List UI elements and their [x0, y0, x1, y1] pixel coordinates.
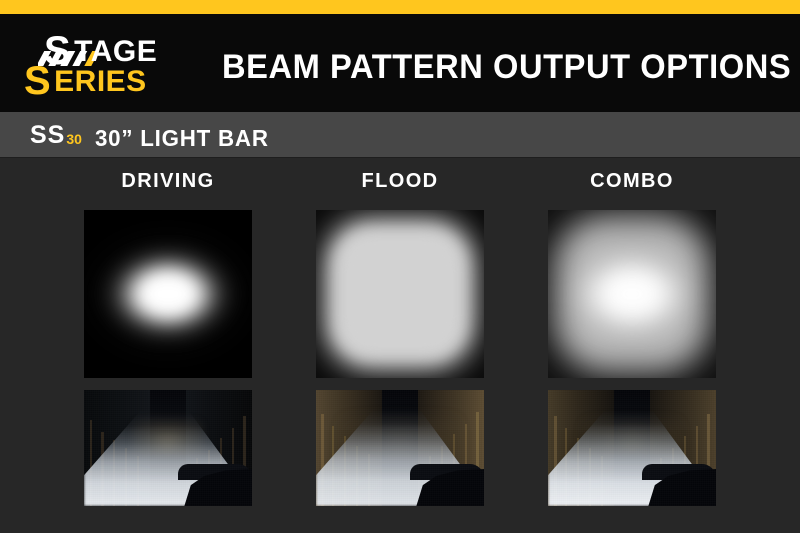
flood-beam-pattern [316, 210, 484, 378]
logo-series-rest: ERIES [54, 65, 147, 98]
stage-series-logo: S TAGE S ERIES [22, 32, 197, 102]
column-header-combo: COMBO [516, 170, 748, 193]
product-size-label: 30” LIGHT BAR [95, 126, 269, 151]
logo-series-capital: S [24, 59, 50, 103]
combo-beam-pattern [548, 210, 716, 378]
logo-word-series: S ERIES [24, 62, 147, 101]
top-accent-stripe [0, 0, 800, 14]
driving-road-photo [84, 390, 252, 506]
combo-road-photo [548, 390, 716, 506]
column-header-driving: DRIVING [52, 170, 284, 193]
header-bar: S TAGE S ERIES BEAM PATTERN OUTPUT OPTIO… [0, 14, 800, 112]
column-header-flood: FLOOD [284, 170, 516, 193]
model-badge: SS30 [30, 122, 81, 151]
model-badge-prefix: SS [30, 121, 65, 149]
driving-beam-pattern [84, 210, 252, 378]
page-title: BEAM PATTERN OUTPUT OPTIONS [222, 48, 791, 87]
model-badge-suffix: 30 [66, 131, 82, 147]
beam-pattern-comparison: DRIVING [0, 158, 800, 533]
product-subtitle-bar: SS30 30” LIGHT BAR [0, 112, 800, 158]
flood-road-photo [316, 390, 484, 506]
